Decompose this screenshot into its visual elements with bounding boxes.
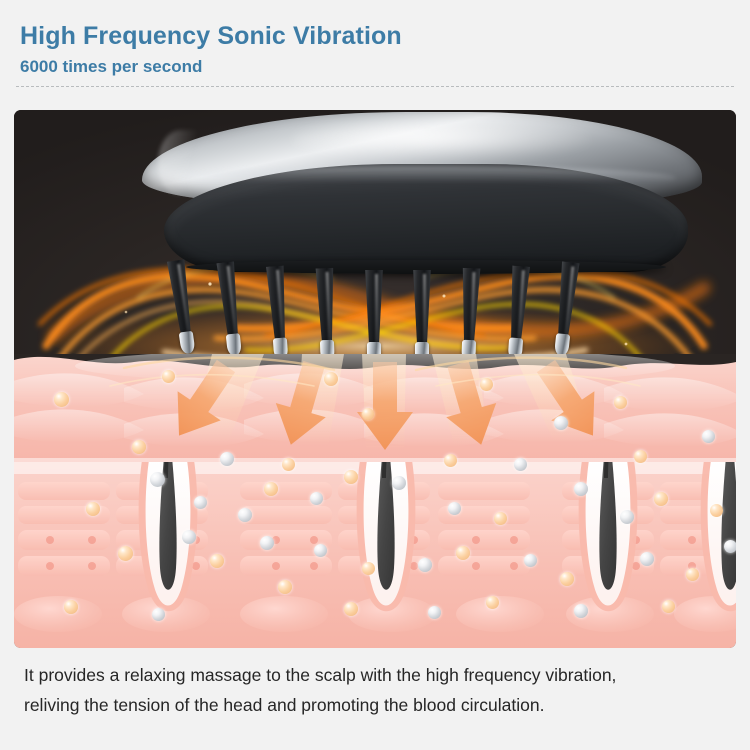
particle — [182, 530, 196, 544]
particle — [724, 540, 736, 553]
particle — [710, 504, 723, 517]
particle — [428, 606, 441, 619]
prong-shine — [375, 274, 378, 344]
particle — [614, 396, 627, 409]
arrows-svg — [14, 350, 736, 480]
prong — [314, 268, 337, 361]
device-seam-line — [176, 166, 676, 190]
vibration-penetration-arrows — [14, 350, 736, 480]
particle — [150, 472, 165, 487]
particle — [260, 536, 274, 550]
prong — [551, 261, 581, 355]
particle — [634, 450, 647, 463]
particle — [210, 554, 224, 568]
particle — [686, 568, 699, 581]
particle — [238, 508, 252, 522]
particle — [418, 558, 432, 572]
page-subtitle: 6000 times per second — [20, 57, 202, 77]
particle — [314, 544, 327, 557]
prong-cone — [412, 270, 432, 348]
header: High Frequency Sonic Vibration 6000 time… — [0, 0, 750, 110]
prong-cone — [364, 270, 384, 348]
particle — [282, 458, 295, 471]
prong — [364, 270, 384, 362]
particle — [132, 440, 146, 454]
description-line-2: reliving the tension of the head and pro… — [24, 690, 730, 720]
particle — [662, 600, 675, 613]
particle — [480, 378, 493, 391]
particle — [574, 604, 588, 618]
particle — [574, 482, 588, 496]
device-gloss-highlight — [292, 120, 592, 160]
particle — [456, 546, 470, 560]
prong — [412, 270, 432, 362]
particle — [362, 408, 374, 420]
particle — [362, 562, 375, 575]
particle — [54, 392, 69, 407]
particle — [194, 496, 207, 509]
particle — [448, 502, 461, 515]
prong — [505, 265, 531, 358]
prong-shine — [423, 274, 426, 344]
particle — [524, 554, 537, 567]
particle — [310, 492, 323, 505]
prong — [265, 265, 291, 358]
particle — [86, 502, 100, 516]
particle — [620, 510, 634, 524]
particle — [324, 372, 338, 386]
illustration-panel — [14, 110, 736, 648]
particle — [344, 602, 358, 616]
header-divider — [16, 86, 734, 87]
particle — [118, 546, 133, 561]
prong — [458, 268, 481, 361]
particle — [702, 430, 715, 443]
particle — [494, 512, 507, 525]
product-description: It provides a relaxing massage to the sc… — [24, 660, 730, 720]
scalp-massager-device — [142, 112, 702, 272]
particle — [444, 454, 457, 467]
description-line-1: It provides a relaxing massage to the sc… — [24, 660, 730, 690]
particle — [278, 580, 292, 594]
device-left-edge-highlight — [158, 130, 204, 196]
particle — [152, 608, 165, 621]
particle — [392, 476, 406, 490]
particle — [514, 458, 527, 471]
page-title: High Frequency Sonic Vibration — [20, 22, 402, 51]
particle — [486, 596, 499, 609]
prong — [215, 261, 245, 355]
particle — [554, 416, 568, 430]
particle — [64, 600, 78, 614]
particle — [220, 452, 234, 466]
particle — [654, 492, 668, 506]
particle — [640, 552, 654, 566]
particle — [344, 470, 358, 484]
particle — [560, 572, 574, 586]
particle — [264, 482, 278, 496]
product-infographic-page: High Frequency Sonic Vibration 6000 time… — [0, 0, 750, 750]
particle — [162, 370, 175, 383]
prong — [166, 259, 199, 353]
